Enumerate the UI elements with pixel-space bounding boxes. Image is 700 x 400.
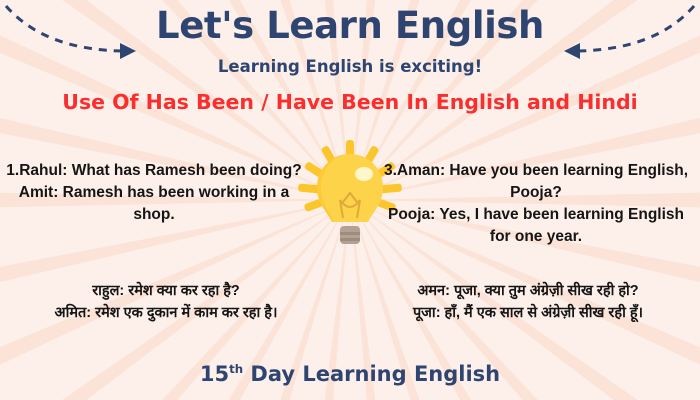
dialogue-line: 1.Rahul: What has Ramesh been doing? [4,160,304,182]
dialogue-english-left: 1.Rahul: What has Ramesh been doing? Ami… [4,160,304,226]
dialogue-line: Amit: Ramesh has been working in a shop. [4,182,304,226]
poster-content: Let's Learn English Learning English is … [0,0,700,400]
footer-caption: 15th Day Learning English [0,362,700,386]
dialogue-line: अमित: रमेश एक दुकान में काम कर रहा है। [6,302,326,324]
dialogue-line: राहुल: रमेश क्या कर रहा है? [6,280,326,302]
dialogue-english-right: 3.Aman: Have you been learning English, … [376,160,696,248]
dialogue-line: 3.Aman: Have you been learning English, … [376,160,696,204]
footer-ordinal-suffix: th [229,362,243,376]
footer-caption-text: Day Learning English [243,362,500,386]
page-subtitle: Learning English is exciting! [0,57,700,76]
dialogue-line: अमन: पूजा, क्या तुम अंग्रेज़ी सीख रही हो… [358,280,698,302]
dialogue-line: पूजा: हाँ, मैं एक साल से अंग्रेज़ी सीख र… [358,302,698,324]
page-title: Let's Learn English [0,4,700,47]
poster-canvas: Let's Learn English Learning English is … [0,0,700,400]
dialogue-hindi-left: राहुल: रमेश क्या कर रहा है? अमित: रमेश ए… [6,280,326,325]
topic-heading: Use Of Has Been / Have Been In English a… [0,90,700,114]
footer-day-number: 15 [200,362,229,386]
dialogue-hindi-right: अमन: पूजा, क्या तुम अंग्रेज़ी सीख रही हो… [358,280,698,325]
dialogue-line: Pooja: Yes, I have been learning English… [376,204,696,248]
